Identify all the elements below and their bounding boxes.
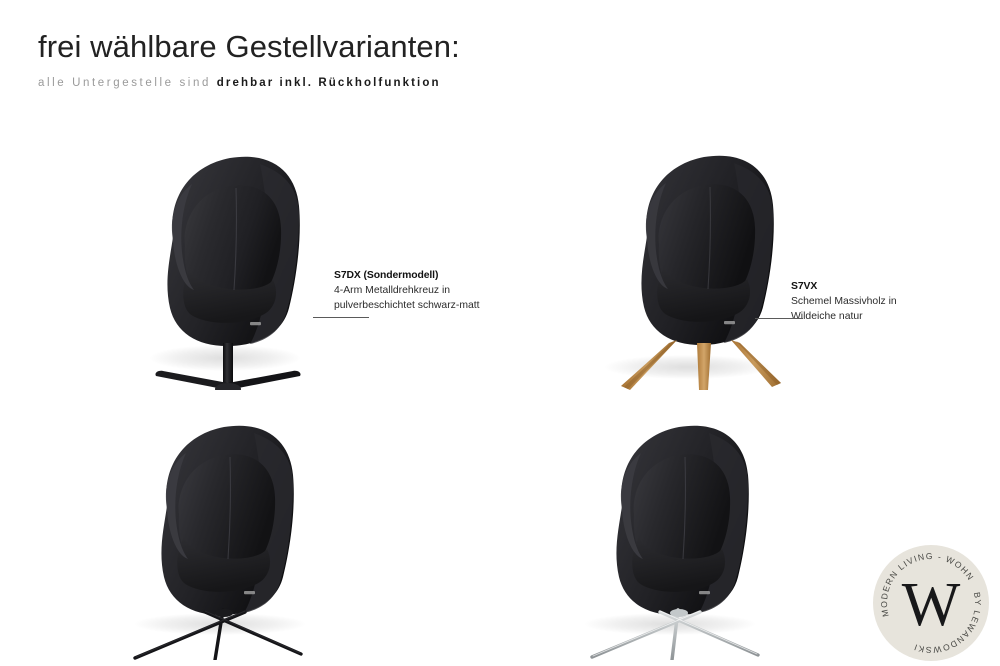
chair-image-s7vx: [585, 140, 815, 390]
chair-image-s7mx-black: [105, 410, 335, 660]
brand-watermark: MODERN LIVING - WOHNDESIGN BY LEWANDOWSK…: [870, 542, 992, 664]
variant-desc-line-2: Wildeiche natur: [791, 309, 1000, 324]
variant-desc-line-1: Schemel Massivholz in: [791, 294, 1000, 309]
label-s7vx: S7VX Schemel Massivholz in Wildeiche nat…: [791, 279, 1000, 324]
variant-s7mx-black: S7MX Mikado Rundrohr in Metall pulverbes…: [0, 395, 520, 666]
variant-code: S7VX: [791, 279, 1000, 294]
variant-s7vx: S7VX Schemel Massivholz in Wildeiche nat…: [480, 0, 1000, 400]
watermark-monogram: W: [902, 571, 961, 639]
label-rule: [313, 317, 369, 318]
variant-s7dx: S7DX (Sondermodell) 4-Arm Metalldrehkreu…: [0, 0, 520, 400]
chair-image-s7mx-nickel: [560, 410, 790, 660]
catalog-page: frei wählbare Gestellvarianten: alle Unt…: [0, 0, 1000, 666]
chair-image-s7dx: [110, 140, 340, 390]
label-rule: [755, 318, 803, 319]
